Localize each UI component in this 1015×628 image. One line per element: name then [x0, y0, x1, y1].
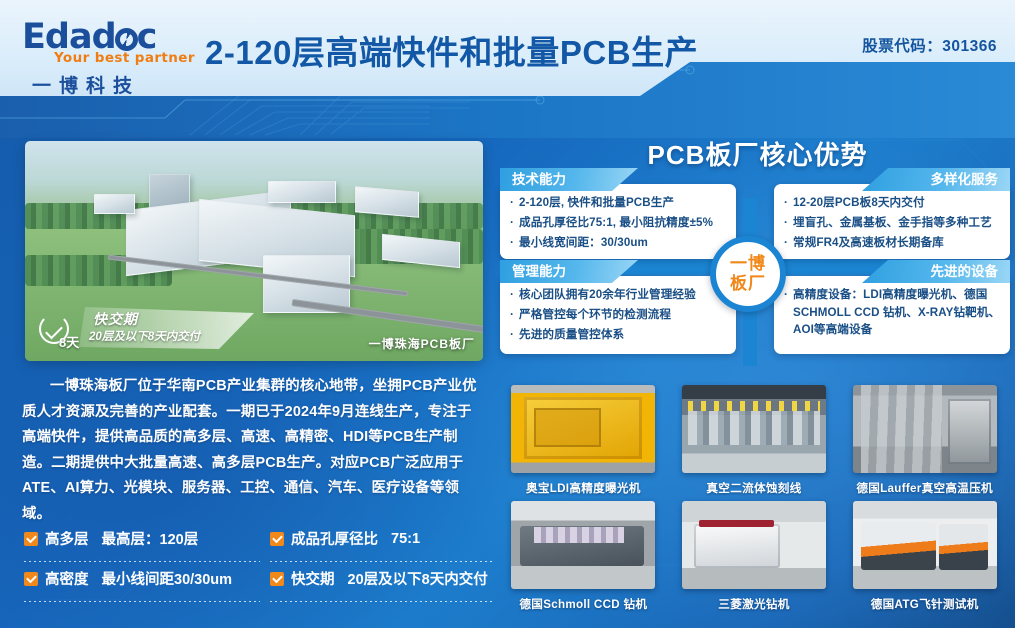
- quadrant-card-service: ·12-20层PCB板8天内交付 ·埋盲孔、金属基板、金手指等多种工艺 ·常规F…: [774, 184, 1010, 259]
- equipment-caption: 德国Lauffer真空高温压机: [856, 480, 993, 496]
- list-item-text: 常规FR4及高速板材长期备库: [793, 234, 944, 252]
- bullet-icon: ·: [510, 306, 519, 324]
- center-badge-line2: 板厂: [730, 274, 766, 294]
- list-item-text: 2-120层, 快件和批量PCB生产: [519, 194, 674, 212]
- quadrant-card-equipment: ·高精度设备：LDI高精度曝光机、德国SCHMOLL CCD 钻机、X-RAY钻…: [774, 276, 1010, 354]
- equipment-gallery: 奥宝LDI高精度曝光机 真空二流体蚀刻线 德国Lauffer真空高温压机 德国S…: [498, 385, 1010, 617]
- feature-value: 最小线间距30/30um: [102, 568, 233, 589]
- list-item-text: 核心团队拥有20余年行业管理经验: [519, 286, 696, 304]
- intro-paragraph: 一博珠海板厂位于华南PCB产业集群的核心地带，坐拥PCB产业优质人才资源及完善的…: [22, 374, 484, 527]
- logo-chinese-name: 一博科技: [32, 71, 194, 98]
- equipment-caption: 真空二流体蚀刻线: [706, 480, 801, 496]
- equipment-item[interactable]: 真空二流体蚀刻线: [669, 385, 840, 501]
- list-item-text: 先进的质量管控体系: [519, 326, 624, 344]
- check-icon: [24, 572, 38, 586]
- equipment-photo: [853, 385, 997, 473]
- brand-logo[interactable]: Edadc Your best partner 一博科技: [22, 18, 194, 86]
- feature-value: 20层及以下8天内交付: [348, 568, 488, 589]
- bullet-icon: ·: [510, 326, 519, 344]
- feature-key: 高多层: [45, 528, 89, 549]
- bullet-icon: ·: [784, 214, 793, 232]
- quadrant-tab-equipment[interactable]: 先进的设备: [862, 260, 1010, 283]
- equipment-caption: 德国Schmoll CCD 钻机: [519, 596, 647, 612]
- equipment-photo: [511, 385, 655, 473]
- equipment-photo: [682, 385, 826, 473]
- bullet-icon: ·: [784, 234, 793, 252]
- feature-key: 高密度: [45, 568, 89, 589]
- list-item-text: 严格管控每个环节的检测流程: [519, 306, 671, 324]
- feature-item: 高多层 最高层：120层: [24, 526, 260, 566]
- list-item: ·常规FR4及高速板材长期备库: [784, 234, 1001, 252]
- logo-tagline: Your best partner: [54, 50, 194, 66]
- list-item: ·最小线宽间距：30/30um: [510, 234, 727, 252]
- badge-days: 8天: [59, 332, 79, 351]
- feature-value: 最高层：120层: [102, 528, 199, 549]
- bullet-icon: ·: [510, 214, 519, 232]
- fast-delivery-badge: 8天 快交期 20层及以下8天内交付: [39, 305, 254, 351]
- center-badge-line1: 一博: [730, 254, 766, 274]
- quadrant-card-management: ·核心团队拥有20余年行业管理经验 ·严格管控每个环节的检测流程 ·先进的质量管…: [500, 276, 736, 354]
- list-item-text: 12-20层PCB板8天内交付: [793, 194, 925, 212]
- equipment-photo: [682, 501, 826, 589]
- feature-divider: [270, 601, 494, 602]
- bullet-icon: ·: [510, 286, 519, 304]
- feature-key: 成品孔厚径比: [291, 528, 378, 549]
- feature-checklist: 高多层 最高层：120层 成品孔厚径比 75:1 高密度 最小线间距30/30u…: [24, 526, 484, 606]
- check-icon: [24, 532, 38, 546]
- feature-divider: [24, 561, 260, 562]
- equipment-photo: [853, 501, 997, 589]
- list-item: ·埋盲孔、金属基板、金手指等多种工艺: [784, 214, 1001, 232]
- list-item: ·核心团队拥有20余年行业管理经验: [510, 286, 727, 304]
- factory-aerial-photo: 8天 快交期 20层及以下8天内交付 一博珠海PCB板厂: [25, 141, 483, 361]
- feature-item: 快交期 20层及以下8天内交付: [270, 566, 494, 606]
- bullet-icon: ·: [784, 194, 793, 212]
- photo-building-small-a: [268, 181, 337, 203]
- logo-o-icon: [115, 28, 138, 51]
- feature-divider: [24, 601, 260, 602]
- list-item-text: 成品孔厚径比75:1, 最小阻抗精度±5%: [519, 214, 713, 232]
- feature-item: 高密度 最小线间距30/30um: [24, 566, 260, 606]
- list-item-text: 最小线宽间距：30/30um: [519, 234, 648, 252]
- list-item: ·2-120层, 快件和批量PCB生产: [510, 194, 727, 212]
- check-icon: [270, 532, 284, 546]
- list-item-text: 高精度设备：LDI高精度曝光机、德国SCHMOLL CCD 钻机、X-RAY钻靶…: [793, 286, 1001, 339]
- list-item: ·高精度设备：LDI高精度曝光机、德国SCHMOLL CCD 钻机、X-RAY钻…: [784, 286, 1001, 339]
- check-icon: [270, 572, 284, 586]
- quadrant-tab-service[interactable]: 多样化服务: [862, 168, 1010, 191]
- stock-code-label: 股票代码：301366: [862, 34, 997, 56]
- feature-value: 75:1: [391, 531, 420, 547]
- badge-title: 快交期: [93, 309, 138, 329]
- bullet-icon: ·: [510, 234, 519, 252]
- photo-building-small-d: [94, 194, 135, 214]
- equipment-caption: 奥宝LDI高精度曝光机: [526, 480, 641, 496]
- equipment-item[interactable]: 三菱激光钻机: [669, 501, 840, 617]
- bullet-icon: ·: [784, 286, 793, 339]
- list-item-text: 埋盲孔、金属基板、金手指等多种工艺: [793, 214, 992, 232]
- equipment-caption: 三菱激光钻机: [718, 596, 789, 612]
- equipment-item[interactable]: 德国Lauffer真空高温压机: [839, 385, 1010, 501]
- feature-key: 快交期: [291, 568, 335, 589]
- feature-item: 成品孔厚径比 75:1: [270, 526, 494, 566]
- bullet-icon: ·: [510, 194, 519, 212]
- equipment-item[interactable]: 德国ATG飞针测试机: [839, 501, 1010, 617]
- badge-subtitle: 20层及以下8天内交付: [89, 328, 200, 344]
- list-item: ·成品孔厚径比75:1, 最小阻抗精度±5%: [510, 214, 727, 232]
- feature-divider: [270, 561, 494, 562]
- list-item: ·12-20层PCB板8天内交付: [784, 194, 1001, 212]
- center-brand-badge: 一博 板厂: [710, 236, 786, 312]
- equipment-photo: [511, 501, 655, 589]
- poster-canvas: Edadc Your best partner 一博科技 2-120层高端快件和…: [0, 0, 1015, 628]
- advantages-title: PCB板厂核心优势: [500, 135, 1015, 169]
- list-item: ·先进的质量管控体系: [510, 326, 727, 344]
- photo-caption: 一博珠海PCB板厂: [369, 335, 475, 352]
- equipment-caption: 德国ATG飞针测试机: [871, 596, 979, 612]
- equipment-item[interactable]: 奥宝LDI高精度曝光机: [498, 385, 669, 501]
- list-item: ·严格管控每个环节的检测流程: [510, 306, 727, 324]
- equipment-item[interactable]: 德国Schmoll CCD 钻机: [498, 501, 669, 617]
- page-title: 2-120层高端快件和批量PCB生产: [205, 30, 685, 76]
- quadrant-card-tech: ·2-120层, 快件和批量PCB生产 ·成品孔厚径比75:1, 最小阻抗精度±…: [500, 184, 736, 259]
- advantages-quadrant-diagram: 技术能力 ·2-120层, 快件和批量PCB生产 ·成品孔厚径比75:1, 最小…: [500, 168, 1010, 366]
